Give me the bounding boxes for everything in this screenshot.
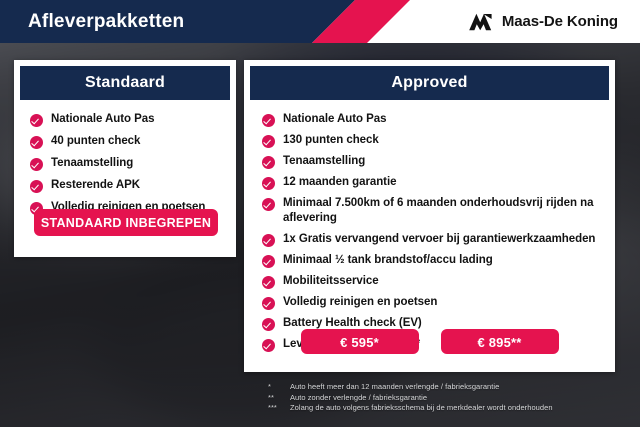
- package-card-standaard: Standaard Nationale Auto Pas 40 punten c…: [14, 60, 236, 257]
- footnote-marker: **: [268, 393, 290, 404]
- feature-label: Resterende APK: [51, 178, 140, 193]
- package-card-approved: Approved Nationale Auto Pas 130 punten c…: [244, 60, 615, 372]
- list-item: Nationale Auto Pas: [30, 112, 226, 127]
- feature-list-standaard: Nationale Auto Pas 40 punten check Tenaa…: [14, 100, 236, 215]
- feature-label: Volledig reinigen en poetsen: [283, 295, 437, 310]
- standaard-included-button[interactable]: STANDAARD INBEGREPEN: [34, 209, 218, 236]
- footnote-text: Auto zonder verlengde / fabrieksgarantie: [290, 393, 628, 404]
- list-item: 1x Gratis vervangend vervoer bij garanti…: [262, 232, 603, 247]
- check-circle-icon: [262, 135, 275, 148]
- brand-lockup: Maas-De Koning: [467, 0, 618, 43]
- price-button-895[interactable]: € 895**: [441, 329, 559, 354]
- feature-label: Minimaal ½ tank brandstof/accu lading: [283, 253, 493, 268]
- list-item: Minimaal ½ tank brandstof/accu lading: [262, 253, 603, 268]
- feature-label: 12 maanden garantie: [283, 175, 396, 190]
- card-heading-approved: Approved: [250, 66, 609, 100]
- feature-label: Mobiliteitsservice: [283, 274, 379, 289]
- footnote-marker: ***: [268, 403, 290, 414]
- list-item: Tenaamstelling: [30, 156, 226, 171]
- check-circle-icon: [30, 136, 43, 149]
- check-circle-icon: [262, 234, 275, 247]
- check-circle-icon: [262, 198, 275, 211]
- footnote-single-asterisk: * Auto heeft meer dan 12 maanden verleng…: [268, 382, 628, 393]
- feature-list-approved: Nationale Auto Pas 130 punten check Tena…: [244, 100, 615, 352]
- check-circle-icon: [262, 276, 275, 289]
- promo-slide: Afleverpakketten Maas-De Koning Standaar…: [0, 0, 640, 427]
- price-button-row: € 595* € 895**: [244, 329, 615, 354]
- list-item: Resterende APK: [30, 178, 226, 193]
- check-circle-icon: [30, 158, 43, 171]
- list-item: Tenaamstelling: [262, 154, 603, 169]
- feature-label: Nationale Auto Pas: [51, 112, 154, 127]
- footnote-triple-asterisk: *** Zolang de auto volgens fabrieksschem…: [268, 403, 628, 414]
- footnote-text: Zolang de auto volgens fabrieksschema bi…: [290, 403, 628, 414]
- page-title: Afleverpakketten: [28, 0, 184, 43]
- card-heading-standaard: Standaard: [20, 66, 230, 100]
- list-item: Volledig reinigen en poetsen: [262, 295, 603, 310]
- feature-label: 40 punten check: [51, 134, 140, 149]
- footnote-text: Auto heeft meer dan 12 maanden verlengde…: [290, 382, 628, 393]
- feature-label: Tenaamstelling: [283, 154, 365, 169]
- price-button-595[interactable]: € 595*: [301, 329, 419, 354]
- brand-name: Maas-De Koning: [502, 13, 618, 30]
- check-circle-icon: [262, 297, 275, 310]
- feature-label: 130 punten check: [283, 133, 379, 148]
- feature-label: 1x Gratis vervangend vervoer bij garanti…: [283, 232, 595, 247]
- footnote-marker: *: [268, 382, 290, 393]
- list-item: Minimaal 7.500km of 6 maanden onderhouds…: [262, 196, 603, 226]
- list-item: Nationale Auto Pas: [262, 112, 603, 127]
- check-circle-icon: [262, 156, 275, 169]
- check-circle-icon: [262, 255, 275, 268]
- check-circle-icon: [262, 177, 275, 190]
- check-circle-icon: [30, 180, 43, 193]
- feature-label: Nationale Auto Pas: [283, 112, 386, 127]
- list-item: Mobiliteitsservice: [262, 274, 603, 289]
- feature-label: Minimaal 7.500km of 6 maanden onderhouds…: [283, 196, 603, 226]
- maas-de-koning-m-logo-icon: [467, 13, 493, 31]
- feature-label: Tenaamstelling: [51, 156, 133, 171]
- check-circle-icon: [262, 114, 275, 127]
- page-header: Afleverpakketten Maas-De Koning: [0, 0, 640, 43]
- list-item: 12 maanden garantie: [262, 175, 603, 190]
- footnote-double-asterisk: ** Auto zonder verlengde / fabrieksgaran…: [268, 393, 628, 404]
- footnotes-block: * Auto heeft meer dan 12 maanden verleng…: [268, 382, 628, 414]
- list-item: 130 punten check: [262, 133, 603, 148]
- check-circle-icon: [30, 114, 43, 127]
- list-item: 40 punten check: [30, 134, 226, 149]
